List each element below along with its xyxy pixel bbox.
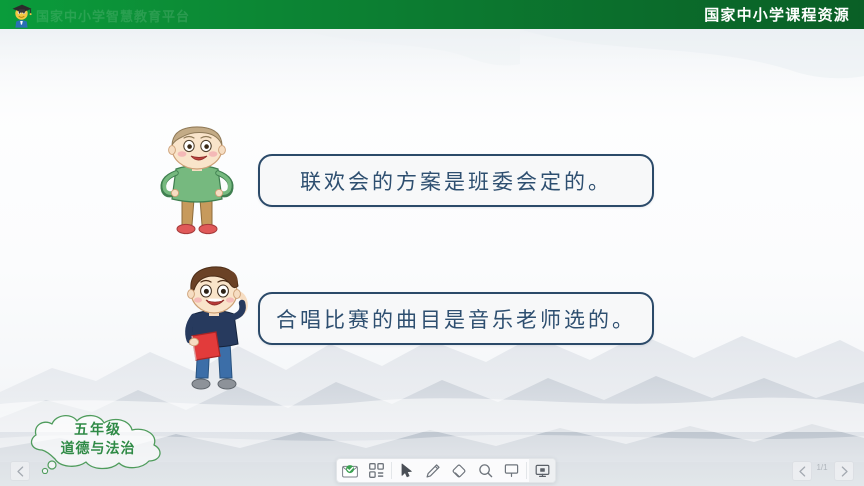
qr-grid-icon[interactable] — [363, 459, 389, 482]
green-envelope-icon[interactable] — [337, 459, 363, 482]
speech-bubble-1-text: 联欢会的方案是班委会定的。 — [300, 166, 612, 196]
pen-icon[interactable] — [420, 459, 446, 482]
character-boy-green-sweater — [146, 121, 248, 239]
bottom-toolbar[interactable] — [336, 458, 556, 483]
toolbar-group-cast — [529, 459, 555, 482]
header-watermark: 国家中小学智慧教育平台 — [36, 6, 190, 25]
prev-slide-button-right[interactable] — [792, 461, 812, 481]
toolbar-group-resources — [337, 459, 389, 482]
toolbar-separator-1 — [391, 462, 392, 479]
speech-bubble-2: 合唱比赛的曲目是音乐老师选的。 — [258, 292, 654, 345]
next-slide-button[interactable] — [834, 461, 854, 481]
cursor-pointer-icon[interactable] — [394, 459, 420, 482]
graduation-cap-mascot-icon — [8, 1, 36, 28]
speech-bubble-2-text: 合唱比赛的曲目是音乐老师选的。 — [276, 304, 636, 334]
prev-slide-button-left[interactable] — [10, 461, 30, 481]
whiteboard-icon[interactable] — [498, 459, 524, 482]
toolbar-separator-2 — [526, 462, 527, 479]
speech-bubble-1: 联欢会的方案是班委会定的。 — [258, 154, 654, 207]
slide-stage: 国家中小学智慧教育平台 国家中小学课程资源 — [0, 0, 864, 486]
eraser-icon[interactable] — [446, 459, 472, 482]
projector-screen-icon[interactable] — [529, 459, 555, 482]
badge-grade-label: 五年级 — [22, 421, 174, 440]
page-title: 国家中小学课程资源 — [704, 4, 850, 25]
magnifier-icon[interactable] — [472, 459, 498, 482]
character-boy-navy-shirt — [168, 262, 260, 394]
grade-subject-cloud-badge: 五年级 道德与法治 — [22, 412, 174, 474]
badge-subject-label: 道德与法治 — [22, 440, 174, 459]
page-indicator: 1/1 — [812, 463, 832, 472]
toolbar-group-tools — [394, 459, 524, 482]
app-header: 国家中小学智慧教育平台 国家中小学课程资源 — [0, 0, 864, 29]
